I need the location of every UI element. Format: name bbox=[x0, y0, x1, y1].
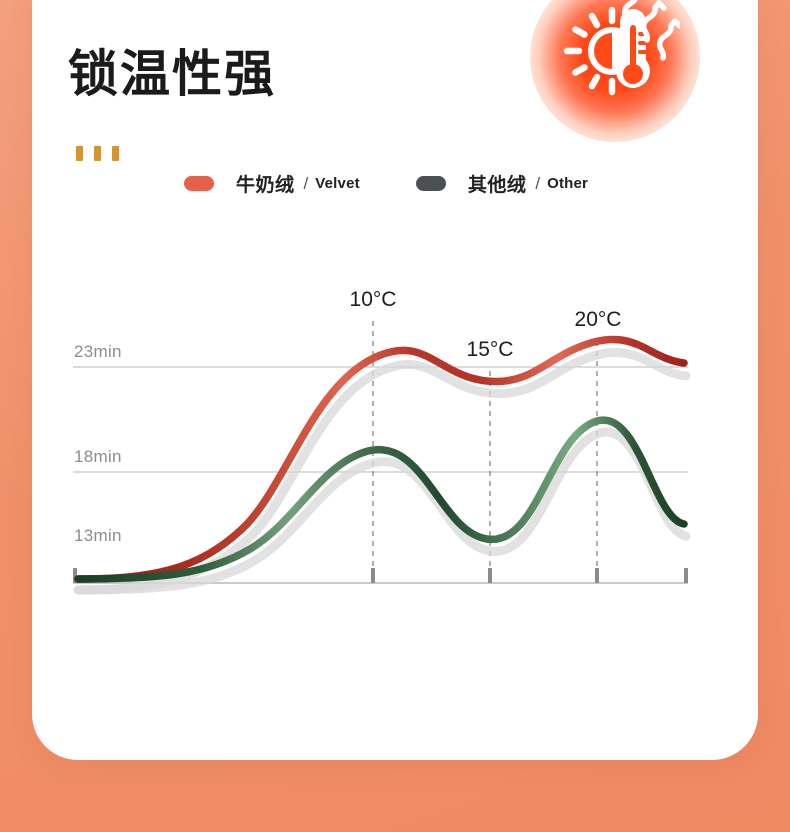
legend-swatch-velvet bbox=[184, 176, 214, 191]
page-root: 锁温性强 bbox=[0, 0, 790, 832]
series-line-other bbox=[78, 420, 684, 579]
legend-label-cn: 牛奶绒 bbox=[236, 170, 295, 197]
accent-dash bbox=[76, 146, 83, 161]
chart-gridlines bbox=[73, 367, 688, 472]
legend-item-other: 其他绒 / Other bbox=[416, 170, 588, 197]
legend-item-velvet: 牛奶绒 / Velvet bbox=[184, 170, 360, 197]
page-title: 锁温性强 bbox=[68, 49, 276, 99]
chart-x-ticks bbox=[75, 568, 686, 583]
y-tick-label-13min: 13min bbox=[74, 526, 122, 546]
chart-legend: 牛奶绒 / Velvet 其他绒 / Other bbox=[184, 170, 588, 197]
x-annotation-15c: 15°C bbox=[467, 338, 514, 362]
legend-separator: / bbox=[304, 174, 309, 194]
y-tick-label-18min: 18min bbox=[74, 447, 122, 467]
legend-separator: / bbox=[535, 174, 540, 194]
title-accent-dashes bbox=[76, 146, 119, 161]
sun-thermometer-glyph bbox=[554, 0, 680, 114]
accent-dash bbox=[112, 146, 119, 161]
x-annotation-20c: 20°C bbox=[575, 308, 622, 332]
legend-swatch-other bbox=[416, 176, 446, 191]
other-line-shadow bbox=[78, 432, 686, 590]
x-annotation-10c: 10°C bbox=[350, 288, 397, 312]
accent-dash bbox=[94, 146, 101, 161]
legend-label-en: Other bbox=[547, 175, 588, 192]
legend-label-en: Velvet bbox=[315, 175, 360, 192]
legend-label-cn: 其他绒 bbox=[468, 170, 527, 197]
y-tick-label-23min: 23min bbox=[74, 342, 122, 362]
sun-thermometer-heat-icon bbox=[530, 0, 700, 142]
series-line-velvet bbox=[78, 339, 684, 579]
velvet-line-shadow bbox=[78, 352, 686, 590]
chart-annotation-guides bbox=[373, 321, 597, 568]
content-card: 锁温性强 bbox=[32, 0, 758, 760]
